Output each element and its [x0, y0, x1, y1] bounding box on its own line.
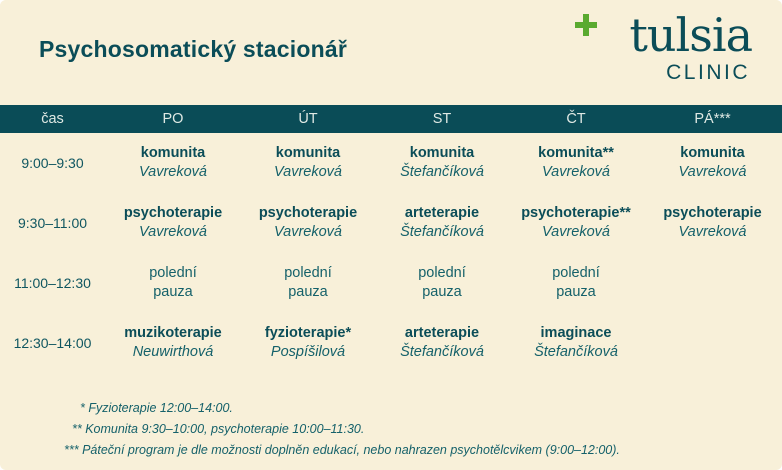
column-header-wednesday: ST — [375, 105, 509, 133]
weekly-schedule-table: čas PO ÚT ST ČT PÁ*** 9:00–9:30 komunita… — [0, 105, 782, 373]
schedule-cell: komunita Vavreková — [241, 133, 375, 193]
activity-name: psychoterapie** — [511, 204, 641, 223]
schedule-cell-empty — [643, 313, 782, 373]
break-label-line2: pauza — [243, 283, 373, 302]
table-row: 11:00–12:30 polední pauza polední pauza … — [0, 253, 782, 313]
activity-name: komunita — [243, 144, 373, 163]
therapist-name: Vavreková — [243, 163, 373, 182]
therapist-name: Vavreková — [511, 223, 641, 242]
logo-wordmark: tulsia — [629, 12, 752, 58]
page-title: Psychosomatický stacionář — [39, 36, 347, 63]
activity-name: muzikoterapie — [107, 324, 239, 343]
schedule-cell: polední pauza — [105, 253, 241, 313]
therapist-name: Štefančíková — [377, 223, 507, 242]
footnote-2: ** Komunita 9:30–10:00, psychoterapie 10… — [0, 419, 782, 440]
activity-name: komunita — [107, 144, 239, 163]
schedule-cell: psychoterapie Vavreková — [643, 193, 782, 253]
schedule-cell: komunita Vavreková — [105, 133, 241, 193]
activity-name: psychoterapie — [107, 204, 239, 223]
therapist-name: Vavreková — [107, 163, 239, 182]
page-banner: Psychosomatický stacionář tulsia CLINIC — [0, 0, 782, 105]
activity-name: fyzioterapie* — [243, 324, 373, 343]
footnotes: * Fyzioterapie 12:00–14:00. ** Komunita … — [0, 398, 782, 461]
schedule-cell: komunita Vavreková — [643, 133, 782, 193]
schedule-cell: psychoterapie** Vavreková — [509, 193, 643, 253]
footnote-3: *** Páteční program je dle možnosti dopl… — [0, 440, 782, 461]
break-label-line1: polední — [377, 264, 507, 283]
column-header-time: čas — [0, 105, 105, 133]
therapist-name: Pospíšilová — [243, 343, 373, 362]
break-label-line2: pauza — [511, 283, 641, 302]
table-row: 9:30–11:00 psychoterapie Vavreková psych… — [0, 193, 782, 253]
therapist-name: Vavreková — [511, 163, 641, 182]
plus-icon — [575, 14, 597, 36]
time-slot: 12:30–14:00 — [0, 313, 105, 373]
schedule-cell: arteterapie Štefančíková — [375, 193, 509, 253]
schedule-cell-empty — [643, 253, 782, 313]
activity-name: imaginace — [511, 324, 641, 343]
therapist-name: Štefančíková — [377, 343, 507, 362]
activity-name: komunita — [377, 144, 507, 163]
therapist-name: Štefančíková — [377, 163, 507, 182]
schedule-cell: arteterapie Štefančíková — [375, 313, 509, 373]
break-label-line1: polední — [243, 264, 373, 283]
schedule-cell: komunita** Vavreková — [509, 133, 643, 193]
break-label-line1: polední — [511, 264, 641, 283]
activity-name: komunita** — [511, 144, 641, 163]
activity-name: arteterapie — [377, 324, 507, 343]
schedule-cell: psychoterapie Vavreková — [241, 193, 375, 253]
column-header-monday: PO — [105, 105, 241, 133]
schedule-cell: psychoterapie Vavreková — [105, 193, 241, 253]
therapist-name: Vavreková — [645, 163, 780, 182]
therapist-name: Vavreková — [645, 223, 780, 242]
footnote-1: * Fyzioterapie 12:00–14:00. — [0, 398, 782, 419]
tulsia-clinic-logo: tulsia CLINIC — [572, 12, 752, 90]
therapist-name: Neuwirthová — [107, 343, 239, 362]
table-row: 9:00–9:30 komunita Vavreková komunita Va… — [0, 133, 782, 193]
table-row: 12:30–14:00 muzikoterapie Neuwirthová fy… — [0, 313, 782, 373]
logo-subtitle: CLINIC — [666, 62, 750, 83]
activity-name: psychoterapie — [645, 204, 780, 223]
schedule-cell: polední pauza — [509, 253, 643, 313]
activity-name: psychoterapie — [243, 204, 373, 223]
table-header-row: čas PO ÚT ST ČT PÁ*** — [0, 105, 782, 133]
schedule-cell: polední pauza — [375, 253, 509, 313]
time-slot: 9:30–11:00 — [0, 193, 105, 253]
column-header-thursday: ČT — [509, 105, 643, 133]
time-slot: 11:00–12:30 — [0, 253, 105, 313]
time-slot: 9:00–9:30 — [0, 133, 105, 193]
therapist-name: Štefančíková — [511, 343, 641, 362]
activity-name: komunita — [645, 144, 780, 163]
break-label-line2: pauza — [107, 283, 239, 302]
therapist-name: Vavreková — [243, 223, 373, 242]
break-label-line1: polední — [107, 264, 239, 283]
therapist-name: Vavreková — [107, 223, 239, 242]
schedule-page: Psychosomatický stacionář tulsia CLINIC … — [0, 0, 782, 470]
schedule-cell: komunita Štefančíková — [375, 133, 509, 193]
activity-name: arteterapie — [377, 204, 507, 223]
schedule-cell: fyzioterapie* Pospíšilová — [241, 313, 375, 373]
break-label-line2: pauza — [377, 283, 507, 302]
schedule-cell: muzikoterapie Neuwirthová — [105, 313, 241, 373]
schedule-cell: polední pauza — [241, 253, 375, 313]
schedule-cell: imaginace Štefančíková — [509, 313, 643, 373]
column-header-friday: PÁ*** — [643, 105, 782, 133]
column-header-tuesday: ÚT — [241, 105, 375, 133]
